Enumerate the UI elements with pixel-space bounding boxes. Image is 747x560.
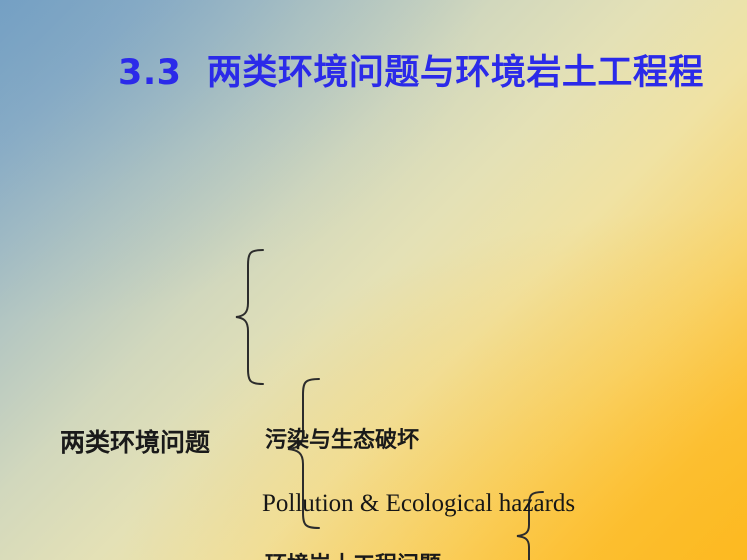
group-one-item-2-cn: 环境岩土工程问题 — [265, 552, 747, 560]
group-one-item-1-en: Pollution & Ecological hazards — [262, 488, 747, 519]
curly-brace-group-one — [232, 247, 268, 387]
group-one-item-1-cn: 污染与生态破坏 — [265, 427, 747, 455]
page-title: 3.3 两类环境问题与环境岩土工程程 — [118, 48, 728, 98]
slide-canvas: 3.3 两类环境问题与环境岩土工程程 两类环境问题 污染与生态破坏 Pollut… — [0, 0, 747, 560]
